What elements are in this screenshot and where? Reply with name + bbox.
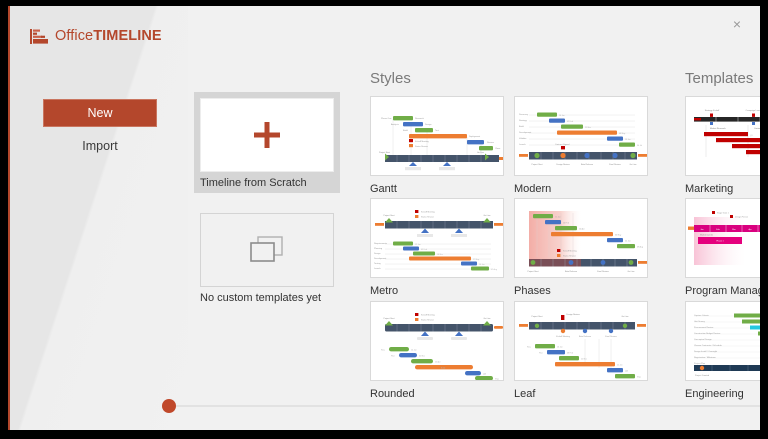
svg-text:Deployment: Deployment — [469, 135, 481, 138]
svg-text:Project Plan: Project Plan — [694, 362, 706, 365]
svg-text:Unit Survey: Unit Survey — [694, 320, 706, 323]
gantt-thumbnail[interactable]: Phase OneResearch AnalysisDesign BuildTe… — [370, 96, 504, 176]
svg-text:Strategy Kickoff: Strategy Kickoff — [705, 109, 720, 112]
new-button[interactable]: New — [43, 99, 157, 127]
phases-thumbnail[interactable]: 11 Jan26 Feb 14 Apr30 May 22 Jun09 Aug K… — [514, 198, 648, 278]
style-card-leaf[interactable]: Project StartDesign Review Go Live Kicko… — [514, 301, 648, 400]
svg-text:Q1: Q1 — [750, 135, 753, 137]
svg-text:Go Live: Go Live — [484, 318, 492, 320]
scrollbar-track[interactable] — [168, 405, 760, 407]
svg-text:26 Feb: 26 Feb — [563, 223, 569, 225]
leaf-thumbnail[interactable]: Project StartDesign Review Go Live Kicko… — [514, 301, 648, 381]
svg-text:16 Jan: 16 Jan — [559, 115, 565, 117]
svg-text:Plan: Plan — [391, 356, 395, 358]
svg-text:Design Review: Design Review — [556, 164, 570, 166]
svg-text:Construction Budget Review: Construction Budget Review — [694, 332, 721, 335]
svg-text:Content Development: Content Development — [754, 127, 760, 130]
svg-text:25 Apr: 25 Apr — [435, 361, 441, 364]
svg-text:Validate: Validate — [519, 137, 527, 140]
template-label-marketing: Marketing — [685, 183, 760, 195]
svg-text:Go Live: Go Live — [630, 164, 638, 166]
svg-text:Final Review: Final Review — [609, 164, 621, 166]
svg-text:08 Feb: 08 Feb — [567, 353, 573, 355]
svg-text:Go Live: Go Live — [628, 271, 636, 273]
svg-text:09 Aug: 09 Aug — [637, 246, 643, 249]
svg-text:Kickoff Meeting: Kickoff Meeting — [563, 250, 577, 253]
svg-text:Contract Signed: Contract Signed — [555, 143, 569, 146]
svg-text:Requirements: Requirements — [374, 242, 387, 245]
svg-text:Status Review: Status Review — [421, 216, 434, 219]
style-label-modern: Modern — [514, 183, 648, 195]
svg-text:Analysis: Analysis — [391, 123, 399, 126]
svg-text:Design: Design — [425, 124, 432, 126]
duplicate-window-icon — [250, 236, 284, 264]
svg-text:Kickoff Meeting: Kickoff Meeting — [556, 335, 570, 338]
horizontal-scrollbar[interactable] — [150, 396, 760, 416]
template-label-program-management: Program Manageme — [685, 285, 760, 297]
svg-text:Choose Contractor / Schedule: Choose Contractor / Schedule — [694, 344, 723, 347]
svg-text:Req: Req — [527, 347, 530, 349]
dialog-header: OfficeTIMELINE × — [10, 6, 760, 62]
svg-text:Registration / Milestone: Registration / Milestone — [694, 356, 717, 359]
svg-text:Final Review: Final Review — [597, 271, 609, 273]
template-card-marketing[interactable]: Strategy KickoffCampaign Launch Market R… — [685, 96, 760, 195]
svg-text:Ship: Ship — [495, 379, 499, 381]
brand-prefix: Office — [55, 28, 93, 44]
svg-text:Jan: Jan — [700, 229, 703, 231]
svg-text:02 Aug: 02 Aug — [491, 268, 497, 271]
svg-text:Beta Release: Beta Release — [565, 270, 578, 273]
svg-text:05 Feb: 05 Feb — [421, 249, 427, 251]
svg-text:Discovery: Discovery — [519, 113, 529, 116]
program-management-thumbnail[interactable]: Stage Gate 1Design Freeze PilotRelease J… — [685, 198, 760, 278]
import-button[interactable]: Import — [30, 139, 170, 153]
svg-text:Status Review: Status Review — [415, 145, 428, 148]
svg-text:Launch: Launch — [519, 144, 527, 146]
svg-text:Capture Criteria: Capture Criteria — [694, 314, 710, 317]
svg-text:Research: Research — [415, 117, 425, 120]
rounded-thumbnail[interactable]: Project StartGo Live Kickoff MeetingStat… — [370, 301, 504, 381]
style-card-modern[interactable]: DiscoveryStrategy BuildDevelopment Valid… — [514, 96, 648, 195]
svg-text:Workstream A: Workstream A — [700, 234, 713, 237]
gantt-logo-icon — [30, 29, 48, 44]
svg-text:Project Created: Project Created — [695, 374, 709, 377]
custom-templates-card: No custom templates yet — [200, 213, 334, 304]
scratch-thumbnail[interactable] — [200, 98, 334, 172]
svg-text:Kickoff Meeting: Kickoff Meeting — [415, 140, 429, 143]
svg-text:Project Start: Project Start — [531, 315, 542, 318]
styles-heading: Styles — [370, 70, 411, 87]
svg-text:Phase 1: Phase 1 — [716, 241, 724, 243]
timeline-from-scratch-card[interactable]: Timeline from Scratch — [194, 92, 340, 193]
svg-text:Project Start: Project Start — [527, 270, 538, 273]
svg-text:Launch: Launch — [374, 268, 382, 270]
svg-text:Testing: Testing — [374, 262, 381, 265]
svg-text:Strategy: Strategy — [519, 119, 528, 122]
svg-text:Project Start: Project Start — [383, 317, 394, 320]
svg-text:14 Jan: 14 Jan — [411, 350, 417, 352]
svg-text:Ship: Ship — [637, 377, 641, 379]
engineering-thumbnail[interactable]: Capture CriteriaUnit Survey Procurement … — [685, 301, 760, 381]
svg-text:Kickoff Meeting: Kickoff Meeting — [421, 211, 435, 214]
brand-name: OfficeTIMELINE — [55, 28, 162, 44]
custom-templates-placeholder — [200, 213, 334, 287]
svg-text:Mar: Mar — [732, 229, 736, 231]
svg-text:Final Review: Final Review — [605, 336, 617, 338]
svg-text:02 Mar: 02 Mar — [419, 355, 425, 358]
brand-logo: OfficeTIMELINE — [30, 28, 162, 44]
svg-text:Status Review: Status Review — [421, 319, 434, 322]
marketing-thumbnail[interactable]: Strategy KickoffCampaign Launch Market R… — [685, 96, 760, 176]
svg-text:11 Jan: 11 Jan — [555, 217, 561, 219]
svg-text:Conceptual Design: Conceptual Design — [694, 338, 712, 341]
svg-text:02 Feb: 02 Feb — [567, 121, 573, 123]
svg-text:16 Jan: 16 Jan — [557, 347, 563, 349]
svg-text:Project Start: Project Start — [383, 214, 394, 217]
svg-text:Req: Req — [381, 350, 384, 352]
plus-icon — [251, 119, 283, 151]
svg-text:Project Start: Project Start — [531, 163, 542, 166]
panel-sheen — [10, 6, 188, 430]
templates-heading: Templates — [685, 70, 753, 87]
template-card-engineering[interactable]: Capture CriteriaUnit Survey Procurement … — [685, 301, 760, 400]
svg-text:Development: Development — [374, 257, 387, 260]
svg-text:27 May: 27 May — [473, 259, 479, 261]
modern-thumbnail[interactable]: DiscoveryStrategy BuildDevelopment Valid… — [514, 96, 648, 176]
brand-suffix: TIMELINE — [93, 28, 161, 44]
style-card-phases[interactable]: 11 Jan26 Feb 14 Apr30 May 22 Jun09 Aug K… — [514, 198, 648, 297]
svg-text:Beta Release: Beta Release — [581, 163, 594, 166]
style-label-metro: Metro — [370, 285, 504, 297]
svg-text:22 Mar: 22 Mar — [581, 358, 587, 361]
template-card-program-management[interactable]: Stage Gate 1Design Freeze PilotRelease J… — [685, 198, 760, 297]
office-timeline-dialog: OfficeTIMELINE × New Import Timeline fro… — [8, 6, 760, 430]
custom-templates-label: No custom templates yet — [200, 292, 334, 304]
svg-text:11 Jun: 11 Jun — [617, 365, 623, 367]
svg-text:Plan: Plan — [539, 353, 543, 355]
svg-text:Design Review: Design Review — [566, 314, 580, 316]
svg-text:18 Mar: 18 Mar — [437, 253, 443, 256]
svg-text:30 May: 30 May — [615, 235, 621, 237]
sidebar-nav: New Import — [30, 99, 170, 153]
scrollbar-thumb[interactable] — [162, 399, 176, 413]
svg-text:Go Live: Go Live — [484, 215, 492, 217]
svg-text:Design Freeze: Design Freeze — [735, 217, 749, 219]
svg-text:14 Jun: 14 Jun — [479, 264, 485, 266]
svg-text:Apr: Apr — [748, 228, 751, 231]
svg-text:12 Jan: 12 Jan — [415, 244, 421, 246]
svg-text:14 Apr: 14 Apr — [579, 228, 585, 231]
style-label-gantt: Gantt — [370, 183, 504, 195]
svg-text:Close: Close — [495, 148, 501, 150]
style-card-metro[interactable]: Project StartGo Live Kickoff MeetingStat… — [370, 198, 504, 297]
svg-text:Stage Gate 1: Stage Gate 1 — [717, 212, 730, 215]
left-accent-stripe — [8, 6, 10, 430]
svg-text:Status Review: Status Review — [563, 255, 576, 258]
svg-text:Market Research: Market Research — [710, 127, 727, 130]
svg-text:Phase One: Phase One — [381, 118, 392, 120]
svg-text:Go Live: Go Live — [477, 152, 485, 154]
svg-text:21 Mar: 21 Mar — [585, 126, 591, 129]
svg-text:08 May: 08 May — [619, 133, 625, 135]
svg-text:30 Jul: 30 Jul — [637, 145, 643, 147]
close-icon[interactable]: × — [724, 14, 750, 34]
svg-text:Campaign Launch: Campaign Launch — [746, 110, 760, 112]
svg-text:Kickoff Meeting: Kickoff Meeting — [421, 314, 435, 317]
metro-thumbnail[interactable]: Project StartGo Live Kickoff MeetingStat… — [370, 198, 504, 278]
svg-text:Review: Review — [487, 142, 494, 144]
svg-text:Procurement Review: Procurement Review — [694, 326, 714, 329]
scratch-label: Timeline from Scratch — [200, 177, 334, 189]
svg-text:Planning: Planning — [374, 248, 383, 250]
style-card-rounded[interactable]: Project StartGo Live Kickoff MeetingStat… — [370, 301, 504, 400]
svg-text:19 Jun: 19 Jun — [625, 139, 631, 141]
style-label-phases: Phases — [514, 285, 648, 297]
svg-text:Design: Design — [374, 253, 381, 255]
svg-text:Project Start: Project Start — [379, 151, 390, 154]
svg-text:22 Jun: 22 Jun — [625, 241, 631, 243]
svg-text:Test: Test — [435, 129, 439, 132]
svg-text:Go Live: Go Live — [622, 316, 630, 318]
svg-text:Build: Build — [441, 368, 445, 370]
style-card-gantt[interactable]: Phase OneResearch AnalysisDesign BuildTe… — [370, 96, 504, 195]
svg-text:Beta Release: Beta Release — [579, 335, 592, 338]
svg-text:Development: Development — [519, 131, 532, 134]
svg-text:Design Install / Oversight: Design Install / Oversight — [694, 350, 718, 353]
